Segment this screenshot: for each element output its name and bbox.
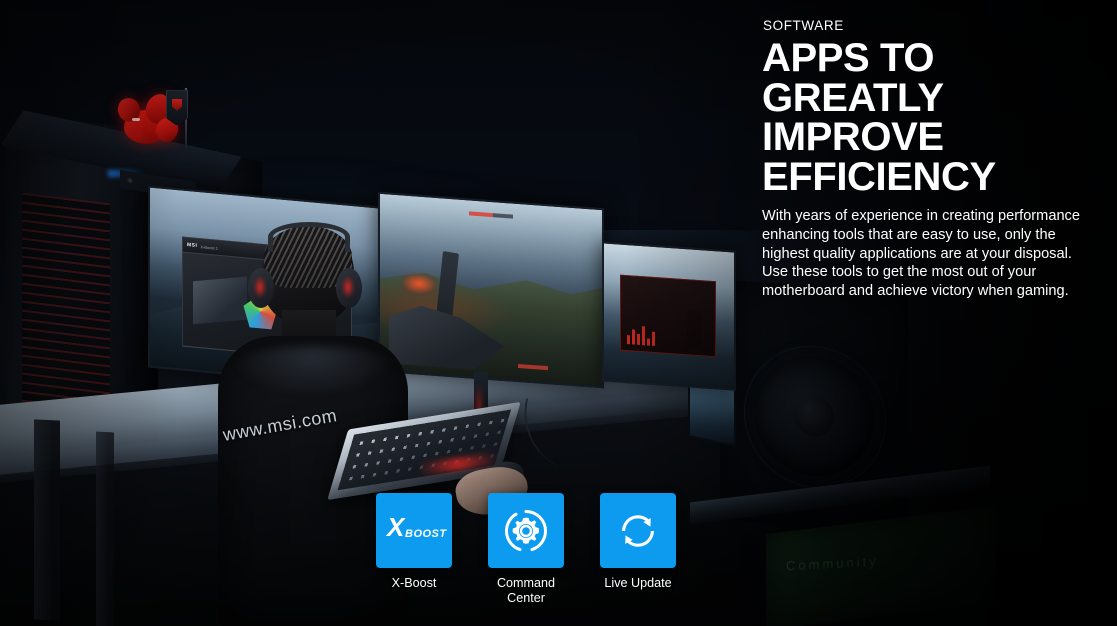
x-boost-icon: X BOOST xyxy=(385,514,443,548)
monitor-center xyxy=(378,192,604,389)
app-shortcut-live-update[interactable]: Live Update xyxy=(600,493,676,607)
headline-line-3: IMPROVE xyxy=(762,118,1092,158)
app-label-x-boost: X-Boost xyxy=(392,576,437,591)
copy-block: SOFTWARE APPS TO GREATLY IMPROVE EFFICIE… xyxy=(762,18,1092,301)
headline-line-4: EFFICIENCY xyxy=(762,158,1092,198)
command-center-overlay xyxy=(620,274,716,357)
monitor-right xyxy=(602,241,736,390)
app-label-command-center: Command Center xyxy=(497,576,555,607)
refresh-circle-icon xyxy=(615,508,661,554)
headline-line-2: GREATLY xyxy=(762,79,1092,119)
app-shortcut-x-boost[interactable]: X BOOST X-Boost xyxy=(376,493,452,607)
app-label-live-update: Live Update xyxy=(604,576,671,591)
headset-band xyxy=(268,222,350,252)
desk-leg-left xyxy=(34,419,60,620)
body-paragraph: With years of experience in creating per… xyxy=(762,207,1084,300)
app-shortcut-command-center[interactable]: Command Center xyxy=(488,493,564,607)
software-feature-banner: Community MSI X-Boost 1 xyxy=(0,0,1117,626)
x-boost-tile[interactable]: X BOOST xyxy=(376,493,452,568)
pc-tower-vents xyxy=(22,193,110,414)
headline-line-1: APPS TO xyxy=(762,39,1092,79)
eyebrow-label: SOFTWARE xyxy=(763,18,1092,33)
command-center-tile[interactable] xyxy=(488,493,564,568)
page-title: APPS TO GREATLY IMPROVE EFFICIENCY xyxy=(762,39,1092,197)
desk-leg-right xyxy=(96,432,114,626)
gear-icon xyxy=(502,507,550,555)
x-boost-icon-boost: BOOST xyxy=(405,529,447,540)
msi-app-window-title: X-Boost 1 xyxy=(200,244,218,251)
msi-logo-small: MSI xyxy=(187,242,197,249)
app-shortcut-row: X BOOST X-Boost xyxy=(376,493,676,607)
hardware-box-text: Community xyxy=(786,554,879,574)
live-update-tile[interactable] xyxy=(600,493,676,568)
x-boost-icon-x: X xyxy=(387,514,403,540)
